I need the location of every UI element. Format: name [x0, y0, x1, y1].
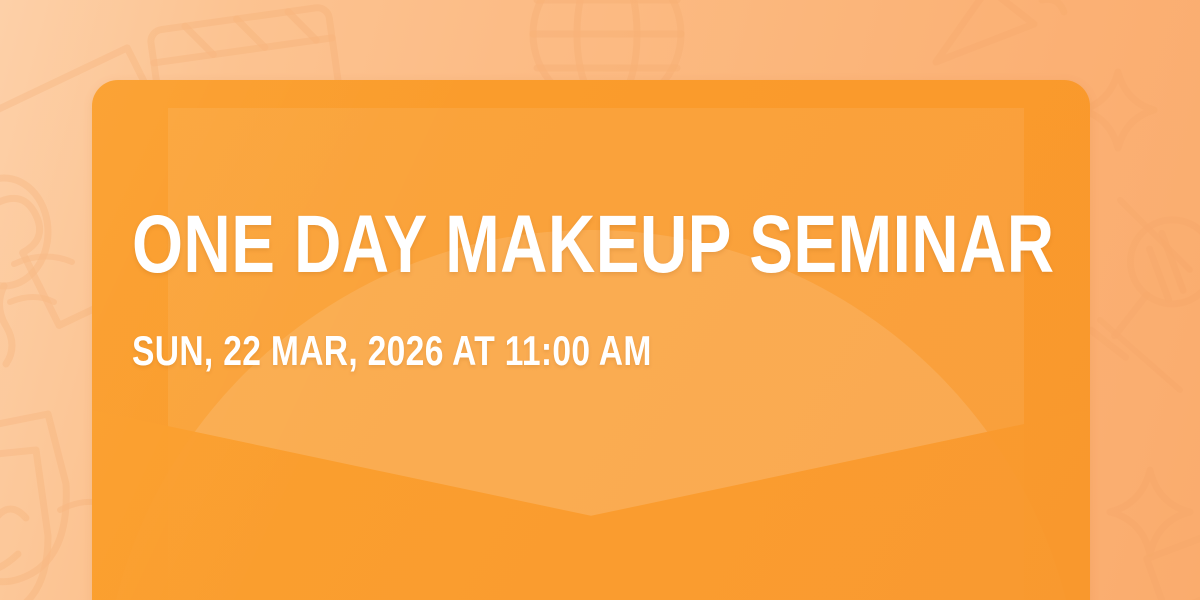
- event-banner: ONE DAY MAKEUP SEMINAR SUN, 22 MAR, 2026…: [0, 0, 1200, 600]
- party-popper-icon: [936, 0, 1064, 62]
- sparkle-icon: [1082, 72, 1154, 148]
- decorative-strokes: [1100, 200, 1190, 390]
- sparkle-small-icon: [1110, 470, 1190, 554]
- balloon-icon: [0, 178, 48, 364]
- event-card: ONE DAY MAKEUP SEMINAR SUN, 22 MAR, 2026…: [92, 80, 1090, 600]
- event-datetime: SUN, 22 MAR, 2026 AT 11:00 AM: [132, 330, 866, 372]
- confetti-icon: [10, 256, 72, 302]
- ticket-bottom-icon: [1144, 524, 1200, 600]
- theater-masks-icon: [0, 414, 66, 600]
- event-title: ONE DAY MAKEUP SEMINAR: [132, 204, 866, 286]
- microphone-icon: [1075, 203, 1200, 370]
- event-text-block: ONE DAY MAKEUP SEMINAR SUN, 22 MAR, 2026…: [132, 204, 1050, 372]
